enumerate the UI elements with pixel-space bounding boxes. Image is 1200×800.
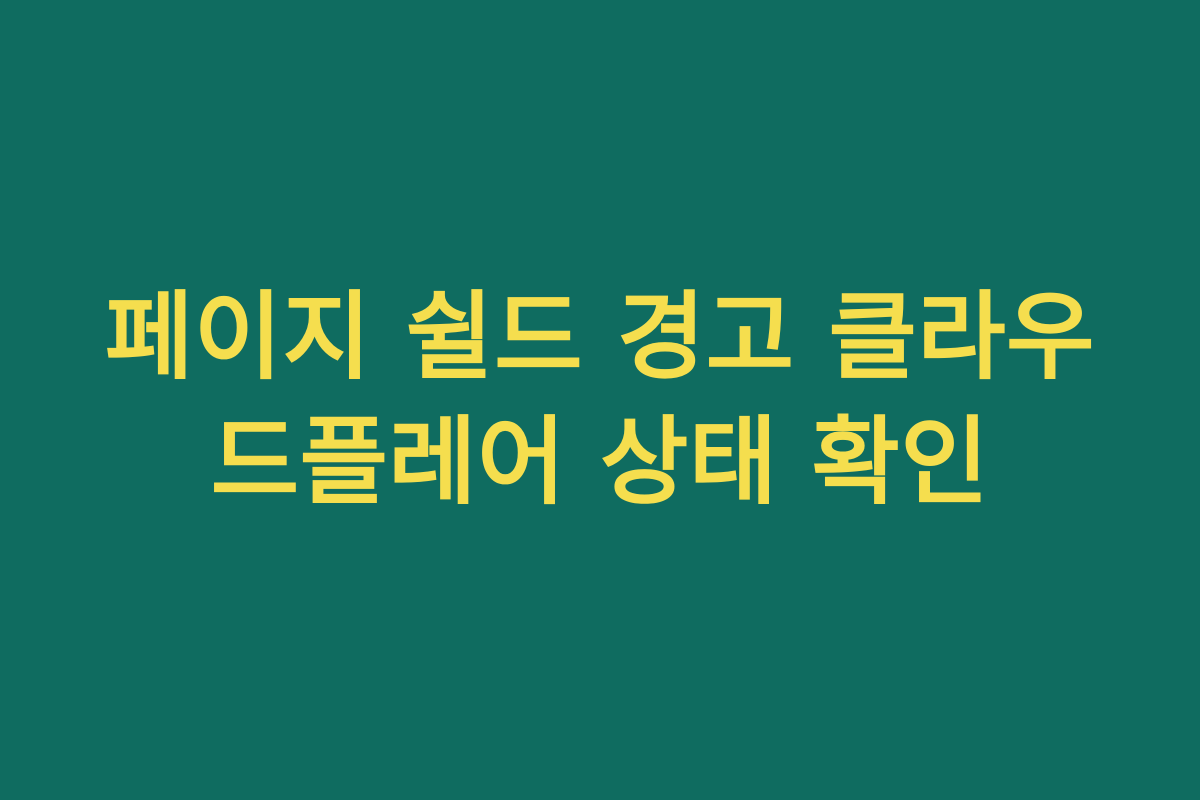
headline-line-2: 드플레어 상태 확인 <box>60 400 1140 525</box>
headline-text: 페이지 쉴드 경고 클라우 드플레어 상태 확인 <box>0 275 1200 525</box>
banner-canvas: 페이지 쉴드 경고 클라우 드플레어 상태 확인 <box>0 0 1200 800</box>
headline-line-1: 페이지 쉴드 경고 클라우 <box>60 275 1140 400</box>
